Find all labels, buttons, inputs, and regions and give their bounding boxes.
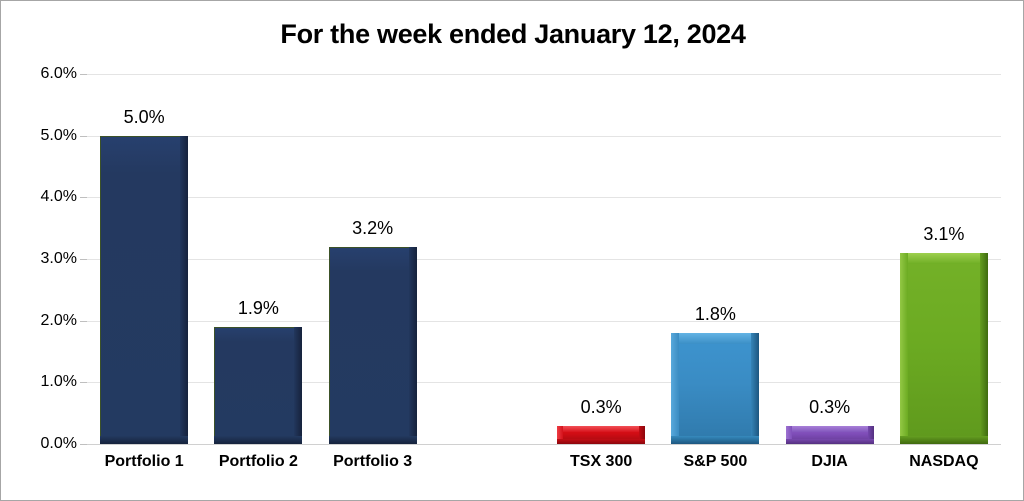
bar-fill xyxy=(671,333,759,444)
y-axis-tick-mark xyxy=(80,136,87,137)
x-axis: Portfolio 1Portfolio 2Portfolio 3TSX 300… xyxy=(87,453,1001,483)
y-axis-tick-mark xyxy=(80,321,87,322)
y-axis-tick-label: 0.0% xyxy=(1,435,77,453)
axis-baseline xyxy=(87,444,1001,445)
data-label: 0.3% xyxy=(581,397,622,418)
y-axis-tick-label: 1.0% xyxy=(1,373,77,391)
bar-chart: For the week ended January 12, 2024 0.0%… xyxy=(0,0,1024,501)
bar-fill xyxy=(557,426,645,445)
bar-fill xyxy=(900,253,988,444)
chart-title: For the week ended January 12, 2024 xyxy=(1,19,1024,50)
data-label: 1.8% xyxy=(695,304,736,325)
y-axis-tick-label: 5.0% xyxy=(1,127,77,145)
bar-portfolio-3[interactable] xyxy=(329,247,417,444)
gridline xyxy=(87,136,1001,137)
category-label: Portfolio 1 xyxy=(105,453,184,471)
category-label: S&P 500 xyxy=(684,453,748,471)
y-axis-tick-mark xyxy=(80,382,87,383)
category-label: DJIA xyxy=(811,453,847,471)
data-label: 3.1% xyxy=(923,224,964,245)
y-axis-tick-label: 6.0% xyxy=(1,65,77,83)
bar-fill xyxy=(214,327,302,444)
y-axis-tick-mark xyxy=(80,74,87,75)
bar-djia[interactable] xyxy=(786,426,874,445)
y-axis-tick-mark xyxy=(80,444,87,445)
bar-nasdaq[interactable] xyxy=(900,253,988,444)
bar-fill xyxy=(329,247,417,444)
y-axis-tick-label: 4.0% xyxy=(1,188,77,206)
gridline xyxy=(87,259,1001,260)
category-label: Portfolio 3 xyxy=(333,453,412,471)
y-axis-tick-label: 3.0% xyxy=(1,250,77,268)
y-axis-tick-mark xyxy=(80,259,87,260)
bar-fill xyxy=(786,426,874,445)
bar-tsx-300[interactable] xyxy=(557,426,645,445)
data-label: 1.9% xyxy=(238,298,279,319)
bar-portfolio-2[interactable] xyxy=(214,327,302,444)
gridline xyxy=(87,74,1001,75)
bar-fill xyxy=(100,136,188,444)
gridline xyxy=(87,197,1001,198)
data-label: 3.2% xyxy=(352,218,393,239)
category-label: Portfolio 2 xyxy=(219,453,298,471)
data-label: 5.0% xyxy=(124,107,165,128)
bar-portfolio-1[interactable] xyxy=(100,136,188,444)
category-label: NASDAQ xyxy=(909,453,978,471)
gridline xyxy=(87,321,1001,322)
plot-area: 5.0%1.9%3.2%0.3%1.8%0.3%3.1% xyxy=(87,74,1001,444)
y-axis-tick-mark xyxy=(80,197,87,198)
data-label: 0.3% xyxy=(809,397,850,418)
y-axis-tick-label: 2.0% xyxy=(1,312,77,330)
category-label: TSX 300 xyxy=(570,453,632,471)
bar-s-p-500[interactable] xyxy=(671,333,759,444)
